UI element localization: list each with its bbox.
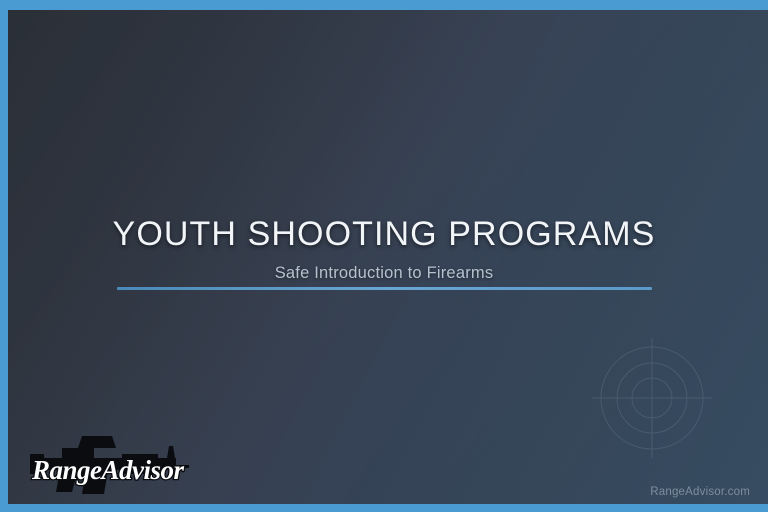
page-subtitle: Safe Introduction to Firearms: [0, 262, 768, 284]
crosshair-target-icon: [588, 334, 716, 462]
brand-logo: RangeAdvisor: [26, 424, 198, 498]
accent-band-bottom: [0, 504, 768, 512]
page-title: YOUTH SHOOTING PROGRAMS: [0, 212, 768, 256]
accent-band-top: [0, 0, 768, 10]
brand-wordmark: RangeAdvisor: [31, 455, 185, 485]
title-accent-rule: [117, 287, 652, 290]
presentation-slide: YOUTH SHOOTING PROGRAMS Safe Introductio…: [0, 0, 768, 512]
site-watermark: RangeAdvisor.com: [650, 486, 750, 498]
title-block: YOUTH SHOOTING PROGRAMS Safe Introductio…: [0, 212, 768, 284]
